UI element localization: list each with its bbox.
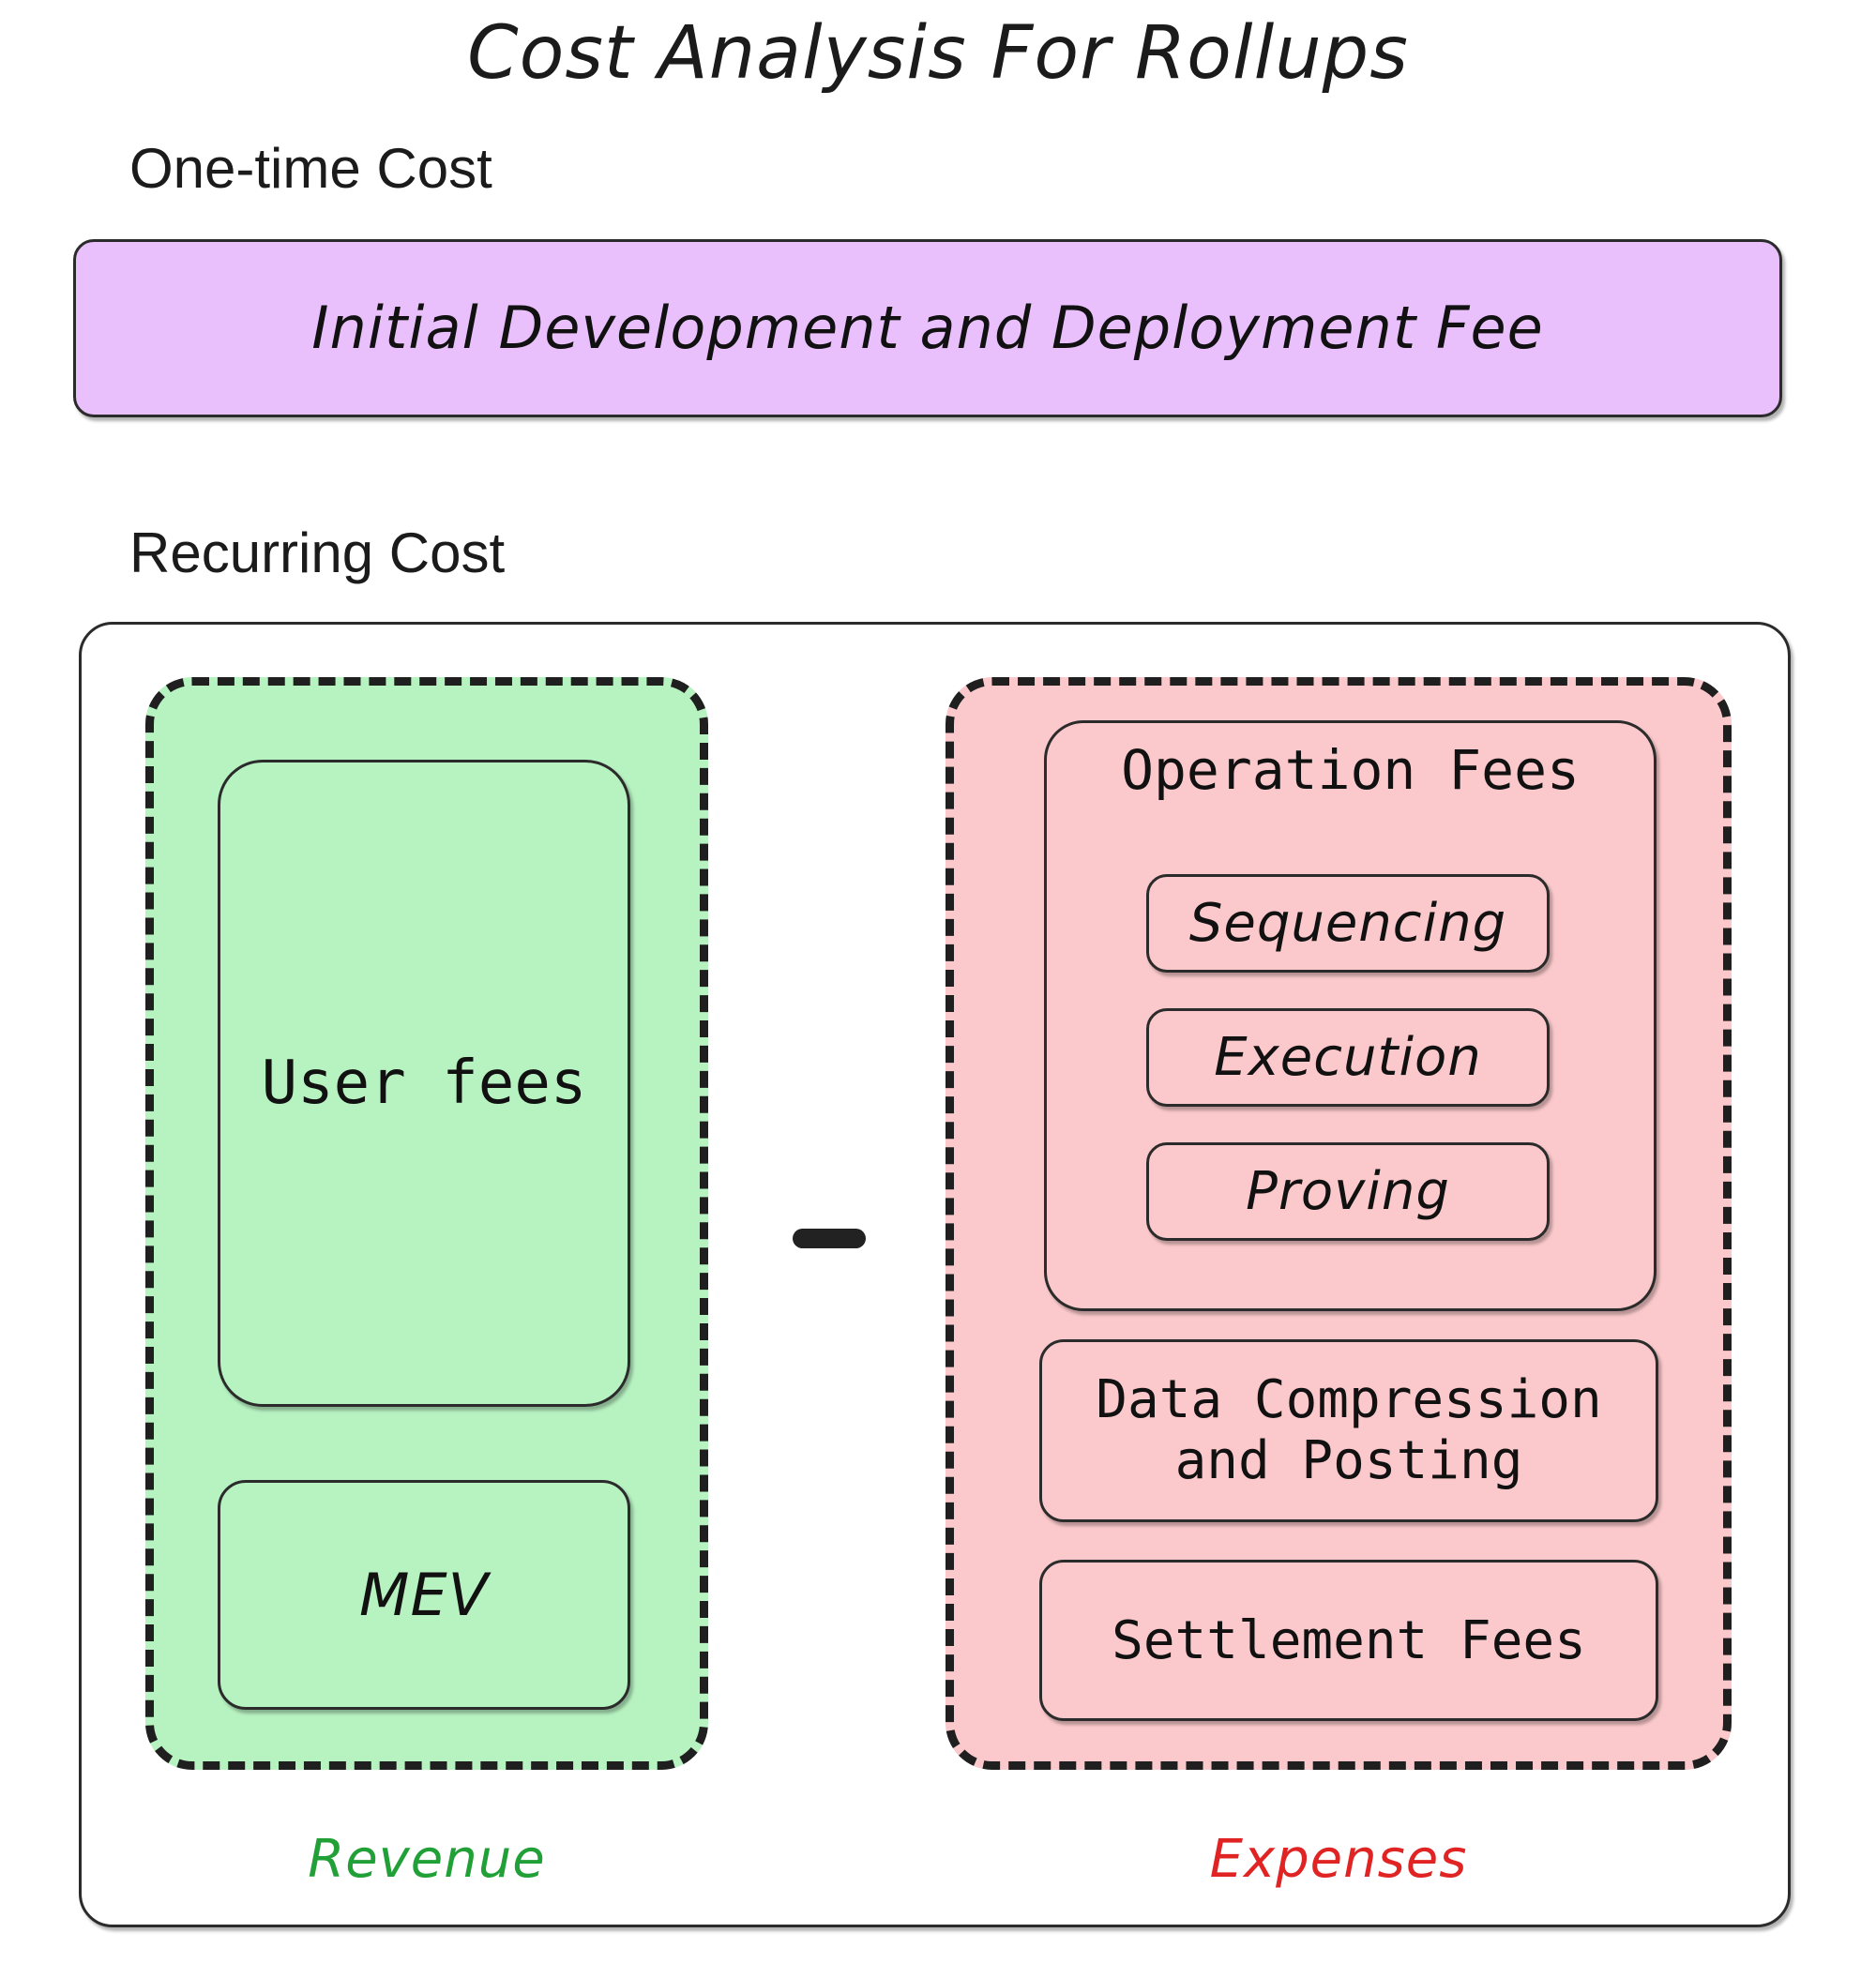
node-proving[interactable]: Proving — [1146, 1142, 1550, 1241]
node-execution-label: Execution — [1214, 1027, 1482, 1088]
node-mev[interactable]: MEV — [218, 1480, 630, 1710]
caption-expenses: Expenses — [946, 1834, 1732, 1886]
minus-operator-icon — [793, 1229, 866, 1248]
node-user-fees[interactable]: User fees — [218, 760, 630, 1407]
node-mev-label: MEV — [359, 1561, 489, 1629]
node-initial-development-fee-label: Initial Development and Deployment Fee — [311, 299, 1544, 357]
node-settlement-fees-label: Settlement Fees — [1112, 1610, 1586, 1671]
node-initial-development-fee[interactable]: Initial Development and Deployment Fee — [73, 239, 1782, 417]
node-execution[interactable]: Execution — [1146, 1008, 1550, 1107]
caption-revenue: Revenue — [145, 1834, 708, 1886]
node-sequencing-label: Sequencing — [1189, 893, 1506, 954]
node-settlement-fees[interactable]: Settlement Fees — [1039, 1560, 1658, 1721]
node-sequencing[interactable]: Sequencing — [1146, 874, 1550, 973]
node-proving-label: Proving — [1246, 1161, 1450, 1222]
node-operation-fees-label: Operation Fees — [1044, 736, 1657, 805]
subgraph-label-one-time-cost: One-time Cost — [129, 141, 492, 197]
node-user-fees-label: User fees — [262, 1049, 587, 1118]
page-title: Cost Analysis For Rollups — [0, 0, 1876, 90]
node-data-compression-and-posting-label: Data Compression and Posting — [1096, 1370, 1601, 1492]
subgraph-label-recurring-cost: Recurring Cost — [129, 525, 505, 581]
node-data-compression-and-posting[interactable]: Data Compression and Posting — [1039, 1339, 1658, 1522]
